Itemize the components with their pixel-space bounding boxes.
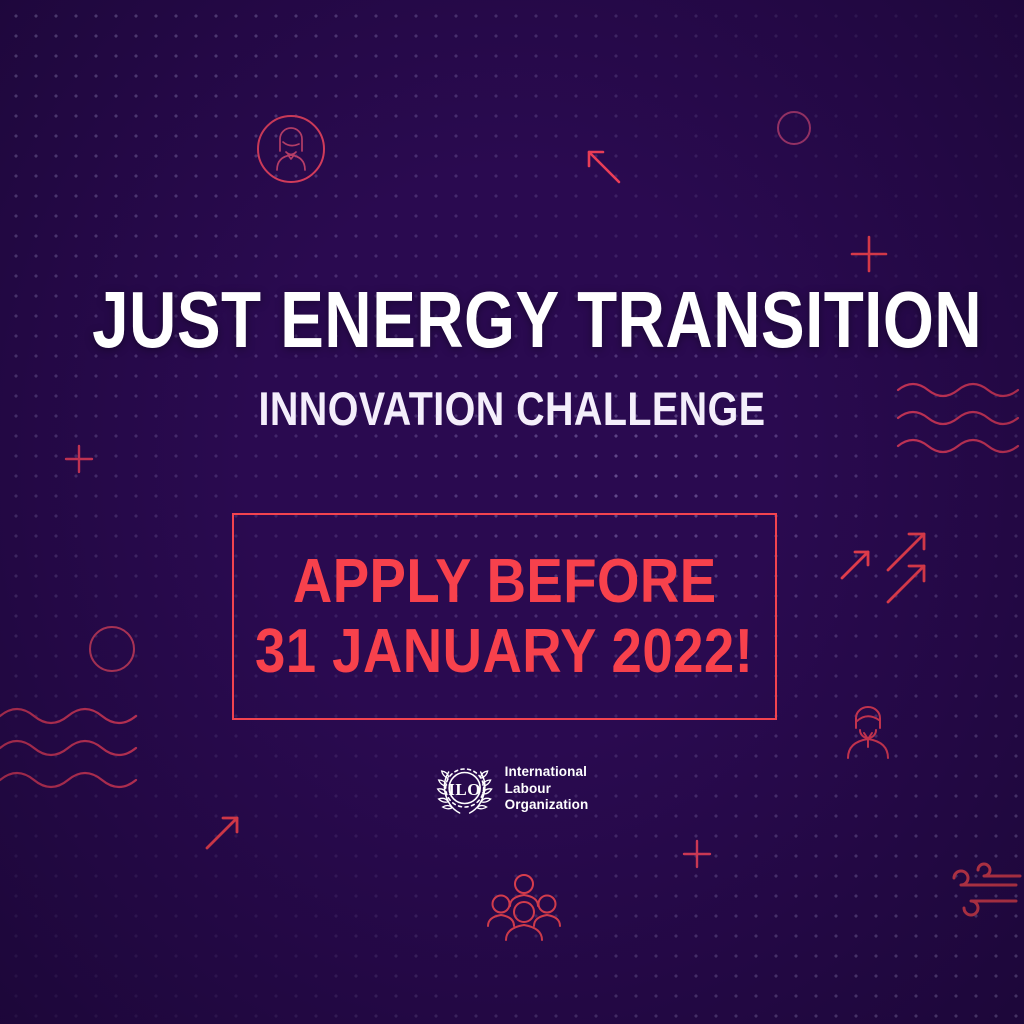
ilo-name-line-1: International (505, 764, 589, 780)
ilo-name-line-2: Labour (505, 781, 589, 797)
page-subtitle: INNOVATION CHALLENGE (82, 381, 942, 436)
ilo-emblem-icon: ILO (436, 760, 494, 818)
poster-canvas: JUST ENERGY TRANSITION INNOVATION CHALLE… (0, 0, 1024, 1024)
deadline-line-1: APPLY BEFORE (293, 550, 717, 613)
deadline-line-2: 31 JANUARY 2022! (255, 620, 753, 683)
deadline-callout-box: APPLY BEFORE 31 JANUARY 2022! (232, 513, 777, 720)
ilo-name-line-3: Organization (505, 797, 589, 813)
ilo-logo: ILO International Labour Organization (436, 760, 589, 818)
poster-content: JUST ENERGY TRANSITION INNOVATION CHALLE… (0, 0, 1024, 1024)
page-title: JUST ENERGY TRANSITION (92, 282, 932, 359)
ilo-wordmark: International Labour Organization (505, 764, 589, 813)
svg-text:ILO: ILO (448, 780, 481, 799)
